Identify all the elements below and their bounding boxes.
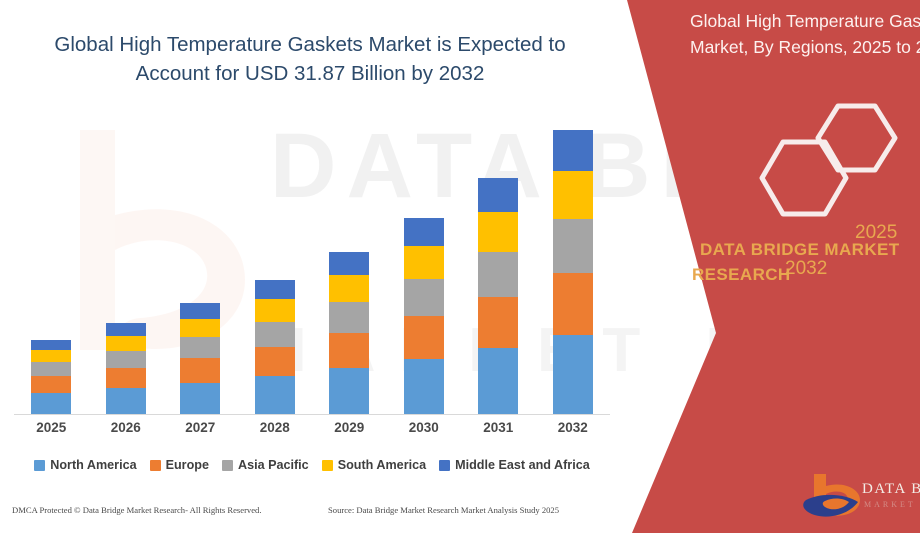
page-title: Global High Temperature Gaskets Market i… [40, 30, 580, 88]
bar-column [255, 280, 295, 414]
x-axis-label: 2025 [21, 420, 81, 435]
x-axis-label: 2032 [543, 420, 603, 435]
legend-label: Europe [166, 458, 209, 472]
legend-label: South America [338, 458, 426, 472]
legend-item[interactable]: Middle East and Africa [439, 458, 590, 472]
bar-segment [255, 322, 295, 347]
bar-segment [329, 302, 369, 333]
bar-segment [329, 275, 369, 302]
bar-segment [180, 303, 220, 319]
infographic-canvas: DATA BRIDGE MARKET RESEARCH Global High … [0, 0, 920, 533]
bar-segment [106, 368, 146, 388]
logo-text-line1: DATA BRIDGE [862, 481, 920, 498]
chart-plot-area [14, 105, 610, 415]
legend-swatch [322, 460, 333, 471]
bar-segment [553, 130, 593, 171]
bar-segment [553, 335, 593, 414]
bar-column [106, 323, 146, 414]
hex-badge-label-2032: 2032 [785, 258, 827, 280]
x-axis-tick-labels: 20252026202720282029203020312032 [14, 420, 610, 446]
bar-segment [553, 273, 593, 335]
bar-segment [31, 376, 71, 393]
legend-item[interactable]: South America [322, 458, 426, 472]
bar-segment [255, 280, 295, 299]
x-axis-label: 2027 [170, 420, 230, 435]
bar-segment [180, 337, 220, 358]
legend-swatch [150, 460, 161, 471]
bar-segment [404, 359, 444, 414]
bar-segment [255, 376, 295, 414]
footer: DMCA Protected © Data Bridge Market Rese… [0, 505, 620, 529]
bar-segment [106, 323, 146, 336]
x-axis-line [14, 414, 610, 415]
hexagon-outlines-icon [745, 100, 920, 220]
bar-segment [255, 299, 295, 321]
legend-label: Middle East and Africa [455, 458, 590, 472]
bar-segment [329, 368, 369, 414]
legend-label: North America [50, 458, 136, 472]
hex-badge-group: 2032 2025 [745, 100, 920, 220]
bar-segment [478, 252, 518, 297]
x-axis-label: 2030 [394, 420, 454, 435]
bar-segment [478, 212, 518, 252]
x-axis-label: 2028 [245, 420, 305, 435]
legend-label: Asia Pacific [238, 458, 309, 472]
x-axis-label: 2026 [96, 420, 156, 435]
legend-item[interactable]: Asia Pacific [222, 458, 309, 472]
bar-segment [478, 178, 518, 212]
x-axis-label: 2029 [319, 420, 379, 435]
footer-source-text: Source: Data Bridge Market Research Mark… [328, 505, 559, 515]
bar-segment [31, 340, 71, 351]
bar-column [404, 218, 444, 414]
right-panel-brand-line1: DATA BRIDGE MARKET [700, 240, 900, 259]
legend-swatch [439, 460, 450, 471]
right-panel-title: Global High Temperature Gaskets Market, … [690, 8, 920, 61]
bar-segment [478, 348, 518, 414]
bar-segment [31, 350, 71, 362]
bar-segment [180, 358, 220, 383]
bar-column [31, 340, 71, 414]
bar-segment [180, 319, 220, 337]
data-bridge-logo-icon [800, 470, 920, 526]
bar-column [329, 252, 369, 414]
bar-segment [255, 347, 295, 376]
bar-segment [106, 336, 146, 351]
legend-swatch [222, 460, 233, 471]
bar-segment [404, 246, 444, 279]
hex-badge-label-2025: 2025 [855, 222, 897, 244]
legend-swatch [34, 460, 45, 471]
bar-segment [478, 297, 518, 348]
legend-item[interactable]: North America [34, 458, 136, 472]
bar-segment [404, 279, 444, 316]
bar-segment [106, 388, 146, 414]
bar-column [478, 178, 518, 414]
x-axis-label: 2031 [468, 420, 528, 435]
bar-segment [329, 333, 369, 369]
bar-segment [404, 316, 444, 359]
right-panel-brand: DATA BRIDGE MARKET RESEARCH [700, 238, 920, 287]
stacked-bar-chart [14, 105, 610, 417]
chart-legend: North AmericaEuropeAsia PacificSouth Ame… [14, 452, 610, 478]
right-panel-brand-line2: RESEARCH [692, 263, 920, 288]
legend-item[interactable]: Europe [150, 458, 209, 472]
bar-segment [31, 362, 71, 376]
bar-segment [329, 252, 369, 275]
bar-segment [31, 393, 71, 414]
bar-segment [553, 171, 593, 219]
bar-segment [553, 219, 593, 273]
bar-column [553, 130, 593, 414]
logo-text-line2: MARKET RESEARCH [864, 500, 920, 509]
bar-segment [180, 383, 220, 415]
footer-dmca-text: DMCA Protected © Data Bridge Market Rese… [12, 505, 262, 515]
bar-column [180, 303, 220, 414]
bar-segment [404, 218, 444, 246]
bar-segment [106, 351, 146, 368]
